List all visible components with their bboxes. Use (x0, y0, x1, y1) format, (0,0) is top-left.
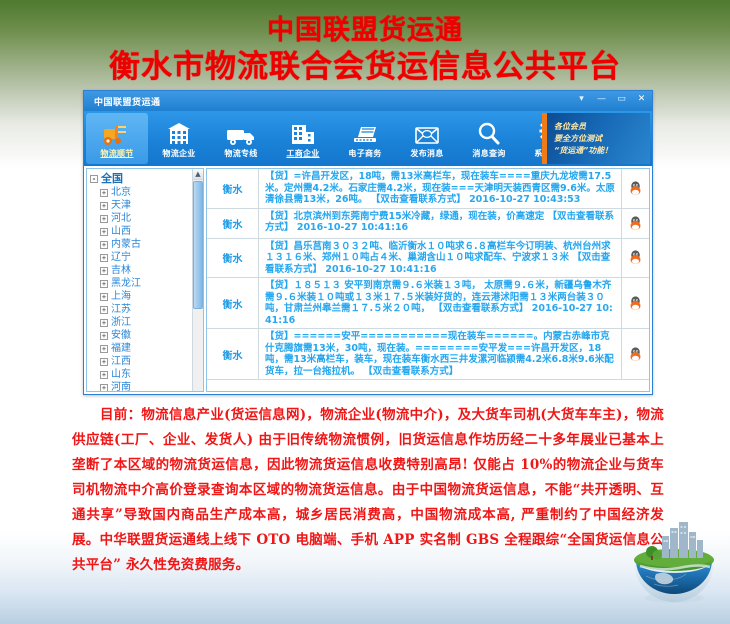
table-row[interactable]: 衡水 【货】======安平===========现在装车======。内蒙古赤… (207, 329, 649, 380)
truck-icon (225, 119, 257, 147)
row-content: 【货】北京滨州到东莞南宁费15米冷藏，绿通，现在装，价高速定 【双击查看联系方式… (259, 209, 621, 238)
envelope-icon (413, 119, 441, 147)
qq-icon[interactable] (621, 209, 649, 238)
office-icon (289, 119, 317, 147)
qq-icon[interactable] (621, 169, 649, 208)
expand-toggle-icon[interactable]: + (100, 384, 108, 392)
qq-icon[interactable] (621, 278, 649, 328)
qq-icon[interactable] (621, 329, 649, 379)
toolbar-item-message-query[interactable]: 消息查询 (458, 111, 520, 166)
tree-node-label: 河南 (111, 381, 131, 392)
tree-node-liaoning[interactable]: + 辽宁 (90, 251, 203, 264)
tree-node-label: 北京 (111, 186, 131, 199)
toolbar-item-logistics-line[interactable]: 物流专线 (210, 111, 272, 166)
window-body: - 全国 + 北京 + 天津 + 河北 + 山西 (84, 166, 652, 394)
toolbar-label: 物流企业 (162, 148, 195, 159)
row-city: 衡水 (207, 278, 259, 328)
dropdown-icon[interactable]: ▾ (574, 93, 589, 106)
toolbar-label: 消息查询 (472, 148, 505, 159)
tree-node-zhejiang[interactable]: + 浙江 (90, 316, 203, 329)
row-city: 衡水 (207, 329, 259, 379)
freight-list-panel[interactable]: 衡水 【货】=许昌开发区，18吨，需13米高栏车，现在装车====重庆九龙坡需1… (206, 168, 650, 392)
ecommerce-icon (350, 119, 380, 147)
tree-node-label: 山西 (111, 225, 131, 238)
tree-node-label: 内蒙古 (111, 238, 141, 251)
qq-icon[interactable] (621, 239, 649, 278)
page-headline: 中国联盟货运通 衡水市物流联合会货运信息公共平台 (0, 0, 730, 86)
tree-node-label: 安徽 (111, 329, 131, 342)
row-city: 衡水 (207, 209, 259, 238)
promo-banner-line-2: 要全方位测试 (554, 133, 650, 145)
headline-line-2: 衡水市物流联合会货运信息公共平台 (0, 48, 730, 86)
collapse-toggle-icon[interactable]: - (90, 175, 98, 183)
tree-node-henan[interactable]: + 河南 (90, 381, 203, 392)
tree-node-label: 浙江 (111, 316, 131, 329)
scroll-up-icon[interactable]: ▲ (193, 169, 203, 180)
table-row[interactable]: 衡水 【货】北京滨州到东莞南宁费15米冷藏，绿通，现在装，价高速定 【双击查看联… (207, 209, 649, 239)
expand-toggle-icon[interactable]: + (100, 280, 108, 288)
globe-city-graphic (626, 510, 722, 606)
row-content: 【货】昌乐莒南３０３２吨、临沂衡水１０吨求６.８高栏车今订明装、杭州台州求１３１… (259, 239, 621, 278)
tree-node-label: 天津 (111, 199, 131, 212)
tree-node-jiangxi[interactable]: + 江西 (90, 355, 203, 368)
promo-banner-line-1: 各位会员 (554, 121, 650, 133)
tree-vertical-scrollbar[interactable]: ▲ (192, 169, 203, 391)
row-message: 【货】======安平===========现在装车======。内蒙古赤峰市克… (265, 331, 614, 377)
region-tree: - 全国 + 北京 + 天津 + 河北 + 山西 (87, 169, 203, 391)
headline-line-1: 中国联盟货运通 (0, 14, 730, 48)
tree-root-label: 全国 (101, 172, 123, 185)
main-toolbar: 物流顺节 物流企业 (84, 111, 652, 166)
expand-toggle-icon[interactable]: + (100, 254, 108, 262)
expand-toggle-icon[interactable]: + (100, 345, 108, 353)
toolbar-label: 工商企业 (286, 148, 319, 159)
tree-node-fujian[interactable]: + 福建 (90, 342, 203, 355)
expand-toggle-icon[interactable]: + (100, 189, 108, 197)
tree-node-shanghai[interactable]: + 上海 (90, 290, 203, 303)
scrollbar-thumb[interactable] (193, 181, 203, 309)
tree-node-label: 江苏 (111, 303, 131, 316)
row-timestamp: 2016-10-27 10:43:53 (469, 194, 580, 205)
row-content: 【货】=许昌开发区，18吨，需13米高栏车，现在装车====重庆九龙坡需17.5… (259, 169, 621, 208)
tree-node-heilongjiang[interactable]: + 黑龙江 (90, 277, 203, 290)
region-tree-panel: - 全国 + 北京 + 天津 + 河北 + 山西 (86, 168, 204, 392)
expand-toggle-icon[interactable]: + (100, 228, 108, 236)
table-row[interactable]: 衡水 【货】昌乐莒南３０３２吨、临沂衡水１０吨求６.８高栏车今订明装、杭州台州求… (207, 239, 649, 279)
expand-toggle-icon[interactable]: + (100, 358, 108, 366)
forklift-icon (102, 119, 132, 147)
tree-node-jilin[interactable]: + 吉林 (90, 264, 203, 277)
promo-banner[interactable]: 各位会员 要全方位测试 “货运通”功能！ (542, 113, 650, 164)
minimize-icon[interactable]: — (594, 93, 609, 106)
tree-node-tianjin[interactable]: + 天津 (90, 199, 203, 212)
toolbar-item-industrial-company[interactable]: 工商企业 (272, 111, 334, 166)
description-paragraph: 目前：物流信息产业(货运信息网)，物流企业(物流中介)，及大货车司机(大货车车主… (72, 403, 664, 578)
tree-node-label: 山东 (111, 368, 131, 381)
expand-toggle-icon[interactable]: + (100, 267, 108, 275)
toolbar-item-ecommerce[interactable]: 电子商务 (334, 111, 396, 166)
row-content: 【货】======安平===========现在装车======。内蒙古赤峰市克… (259, 329, 621, 379)
window-controls: ▾ — ▭ ✕ (574, 93, 649, 106)
window-titlebar: 中国联盟货运通 ▾ — ▭ ✕ (84, 91, 652, 111)
tree-node-beijing[interactable]: + 北京 (90, 186, 203, 199)
table-row[interactable]: 衡水 【货】=许昌开发区，18吨，需13米高栏车，现在装车====重庆九龙坡需1… (207, 169, 649, 209)
toolbar-label: 发布消息 (410, 148, 443, 159)
tree-node-anhui[interactable]: + 安徽 (90, 329, 203, 342)
toolbar-label: 电子商务 (348, 148, 381, 159)
table-row[interactable]: 衡水 【货】１８５１３ 安平到南京需９.６米装１３吨， 太原需９.６米，新疆乌鲁… (207, 278, 649, 329)
row-city: 衡水 (207, 239, 259, 278)
expand-toggle-icon[interactable]: + (100, 293, 108, 301)
tree-node-label: 江西 (111, 355, 131, 368)
tree-node-label: 吉林 (111, 264, 131, 277)
expand-toggle-icon[interactable]: + (100, 215, 108, 223)
maximize-icon[interactable]: ▭ (614, 93, 629, 106)
expand-toggle-icon[interactable]: + (100, 332, 108, 340)
tree-node-shandong[interactable]: + 山东 (90, 368, 203, 381)
tree-node-label: 黑龙江 (111, 277, 141, 290)
promo-banner-line-3: “货运通”功能！ (554, 145, 650, 157)
row-city: 衡水 (207, 169, 259, 208)
toolbar-label: 物流顺节 (100, 148, 133, 159)
tree-node-hebei[interactable]: + 河北 (90, 212, 203, 225)
toolbar-item-logistics-info[interactable]: 物流顺节 (86, 113, 148, 164)
tree-node-jiangsu[interactable]: + 江苏 (90, 303, 203, 316)
toolbar-label: 物流专线 (224, 148, 257, 159)
toolbar-item-logistics-company[interactable]: 物流企业 (148, 111, 210, 166)
tree-node-inner-mongolia[interactable]: + 内蒙古 (90, 238, 203, 251)
row-content: 【货】１８５１３ 安平到南京需９.６米装１３吨， 太原需９.６米，新疆乌鲁木齐需… (259, 278, 621, 328)
tree-node-label: 辽宁 (111, 251, 131, 264)
tree-node-label: 上海 (111, 290, 131, 303)
tree-root-nationwide[interactable]: - 全国 (90, 171, 203, 186)
row-timestamp: 2016-10-27 10:41:16 (325, 264, 436, 275)
close-icon[interactable]: ✕ (634, 93, 649, 106)
expand-toggle-icon[interactable]: + (100, 319, 108, 327)
window-title: 中国联盟货运通 (88, 95, 161, 108)
application-window: 中国联盟货运通 ▾ — ▭ ✕ 物流顺节 (83, 90, 653, 395)
expand-toggle-icon[interactable]: + (100, 241, 108, 249)
row-timestamp: 2016-10-27 10:41:16 (297, 222, 408, 233)
expand-toggle-icon[interactable]: + (100, 371, 108, 379)
tree-node-shanxi[interactable]: + 山西 (90, 225, 203, 238)
row-message: 【货】昌乐莒南３０３２吨、临沂衡水１０吨求６.８高栏车今订明装、杭州台州求１３１… (265, 241, 611, 275)
expand-toggle-icon[interactable]: + (100, 306, 108, 314)
tree-node-label: 福建 (111, 342, 131, 355)
toolbar-item-publish-message[interactable]: 发布消息 (396, 111, 458, 166)
tree-node-label: 河北 (111, 212, 131, 225)
building-icon (166, 119, 192, 147)
search-icon (476, 119, 502, 147)
expand-toggle-icon[interactable]: + (100, 202, 108, 210)
